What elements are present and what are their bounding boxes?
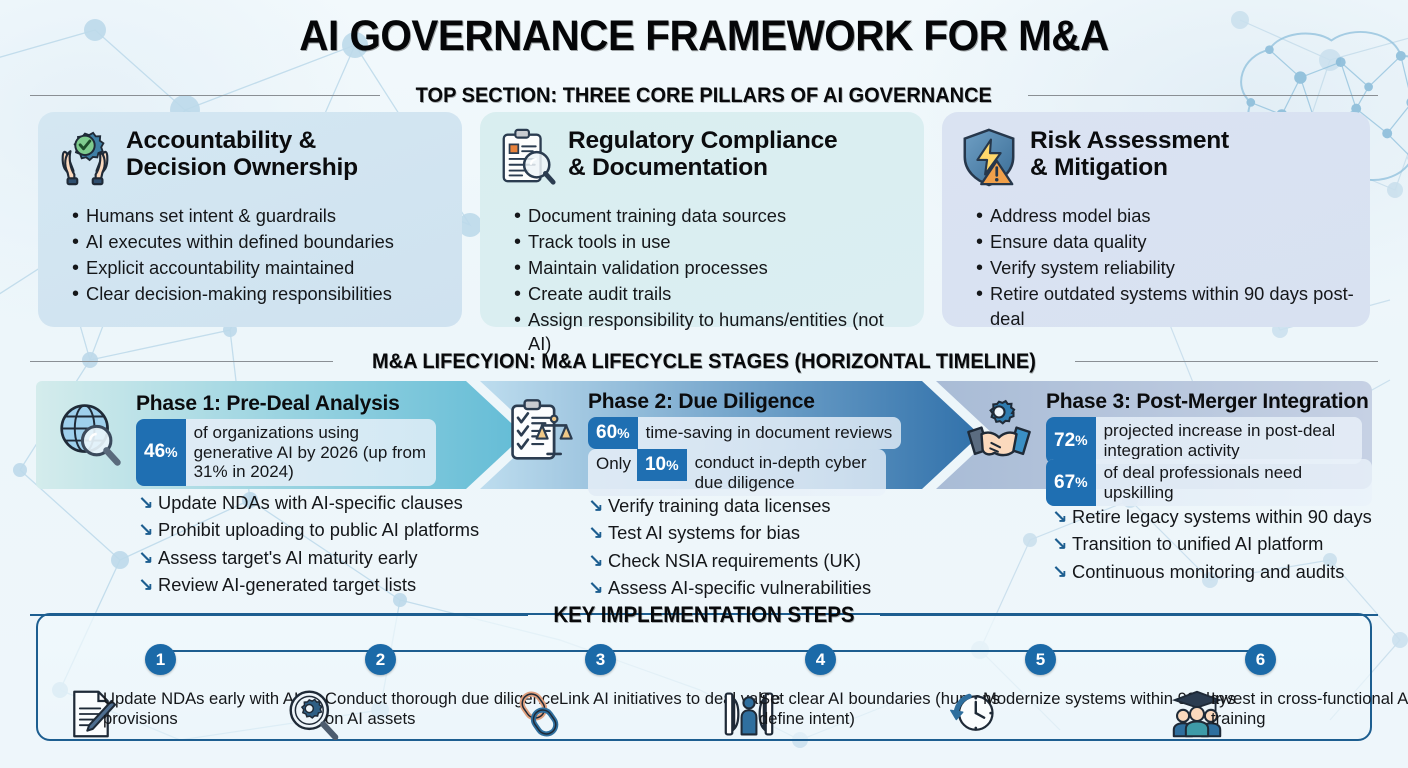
step-label: Invest in cross-functional AI training	[1211, 688, 1408, 729]
phase-1-title: Phase 1: Pre-Deal Analysis	[136, 392, 400, 416]
pillar-header: Risk Assessment & Mitigation	[958, 124, 1354, 198]
clipboard-magnifier-icon	[496, 126, 558, 188]
pillar-title: Risk Assessment & Mitigation	[1030, 124, 1229, 182]
steps-connector-line	[160, 650, 1260, 652]
stat-prefix: Only	[596, 449, 637, 474]
pillar-title-line2: Decision Ownership	[126, 155, 358, 182]
list-item: ↘Review AI-generated target lists	[138, 571, 479, 598]
chain-link-icon	[513, 688, 565, 740]
phase-1[interactable]: Phase 1: Pre-Deal Analysis 46% of organi…	[36, 381, 506, 489]
list-item: ↘Verify training data licenses	[588, 492, 871, 519]
section-header-pillars-label: TOP SECTION: THREE CORE PILLARS OF AI GO…	[416, 83, 992, 108]
list-item: Ensure data quality	[976, 230, 1354, 255]
arrow-icon: ↘	[138, 544, 158, 571]
arrow-icon: ↘	[1052, 558, 1072, 585]
step-number-badge: 3	[585, 644, 616, 675]
divider-rule-right	[1028, 95, 1378, 96]
step-6[interactable]: 6 Invest in cross-functional AI training	[1245, 666, 1408, 740]
pillar-bullet-list: Humans set intent & guardrails AI execut…	[54, 204, 446, 307]
pillar-cards-row: Accountability & Decision Ownership Huma…	[38, 112, 1370, 327]
list-item: Document training data sources	[514, 204, 908, 229]
step-number-badge: 2	[365, 644, 396, 675]
arrow-icon: ↘	[1052, 530, 1072, 557]
pillar-title-line1: Risk Assessment	[1030, 128, 1229, 155]
pillar-header: Accountability & Decision Ownership	[54, 124, 446, 198]
list-item: Clear decision-making responsibilities	[72, 282, 446, 307]
step-number-badge: 6	[1245, 644, 1276, 675]
phase-2-stat-1: Only 10% conduct in-depth cyber due dili…	[588, 449, 886, 496]
list-item: ↘Assess target's AI maturity early	[138, 544, 479, 571]
section-header-steps-label: KEY IMPLEMENTATION STEPS	[553, 602, 854, 628]
pillar-title-line1: Accountability &	[126, 128, 358, 155]
phase-2-actions: ↘Verify training data licenses ↘Test AI …	[588, 492, 871, 601]
stat-text: time-saving in document reviews	[638, 419, 902, 447]
pillar-title-line2: & Documentation	[568, 155, 837, 182]
globe-magnifier-icon	[54, 399, 124, 469]
phase-3-title: Phase 3: Post-Merger Integration	[1046, 390, 1369, 414]
stat-badge: 72%	[1046, 417, 1096, 464]
list-item: ↘Check NSIA requirements (UK)	[588, 547, 871, 574]
arrow-icon: ↘	[588, 547, 608, 574]
list-item: ↘Assess AI-specific vulnerabilities	[588, 574, 871, 601]
handshake-gear-icon	[964, 397, 1034, 467]
phase-1-actions: ↘Update NDAs with AI-specific clauses ↘P…	[138, 489, 479, 598]
list-item: Track tools in use	[514, 230, 908, 255]
list-item: Humans set intent & guardrails	[72, 204, 446, 229]
step-body: Invest in cross-functional AI training	[1245, 666, 1408, 740]
phase-2-title: Phase 2: Due Diligence	[588, 390, 815, 414]
section-header-pillars: TOP SECTION: THREE CORE PILLARS OF AI GO…	[30, 83, 1378, 108]
lifecycle-timeline: Phase 1: Pre-Deal Analysis 46% of organi…	[36, 381, 1372, 489]
divider-rule-right	[1075, 361, 1378, 362]
pillar-card-regulatory-compliance[interactable]: Regulatory Compliance & Documentation Do…	[480, 112, 924, 327]
pillar-card-accountability[interactable]: Accountability & Decision Ownership Huma…	[38, 112, 462, 327]
divider-rule-left	[30, 614, 528, 616]
stat-text: projected increase in post-deal integrat…	[1096, 417, 1362, 464]
step-number-badge: 1	[145, 644, 176, 675]
list-item: Verify system reliability	[976, 256, 1354, 281]
section-header-lifecycle-label: M&A LIFECYION: M&A LIFECYCLE STAGES (HOR…	[372, 349, 1036, 374]
arrow-icon: ↘	[138, 489, 158, 516]
stat-text: of deal professionals need upskilling	[1096, 459, 1372, 506]
pillar-bullet-list: Document training data sources Track too…	[496, 204, 908, 357]
list-item: Address model bias	[976, 204, 1354, 229]
list-item: Maintain validation processes	[514, 256, 908, 281]
list-item: ↘Transition to unified AI platform	[1052, 530, 1372, 557]
list-item: Explicit accountability maintained	[72, 256, 446, 281]
hands-holding-gear-check-icon	[54, 126, 116, 188]
pillar-title-line2: & Mitigation	[1030, 155, 1229, 182]
phase-3[interactable]: Phase 3: Post-Merger Integration 72% pro…	[946, 381, 1372, 489]
section-header-steps: KEY IMPLEMENTATION STEPS	[30, 602, 1378, 628]
infographic-canvas: AI GOVERNANCE FRAMEWORK FOR M&A TOP SECT…	[0, 0, 1408, 768]
arrow-icon: ↘	[588, 492, 608, 519]
list-item: ↘Continuous monitoring and audits	[1052, 558, 1372, 585]
divider-rule-left	[30, 95, 380, 96]
phase-3-stat-1: 67% of deal professionals need upskillin…	[1046, 459, 1372, 506]
list-item: ↘Retire legacy systems within 90 days	[1052, 503, 1372, 530]
stat-text: of organizations using generative AI by …	[186, 419, 436, 486]
arrow-icon: ↘	[138, 571, 158, 598]
list-item: Create audit trails	[514, 282, 908, 307]
pillar-header: Regulatory Compliance & Documentation	[496, 124, 908, 198]
pillar-title-line1: Regulatory Compliance	[568, 128, 837, 155]
divider-rule-right	[880, 614, 1378, 616]
page-title: AI GOVERNANCE FRAMEWORK FOR M&A	[42, 12, 1366, 61]
shield-bolt-warning-icon	[958, 126, 1020, 188]
stat-badge: 46%	[136, 419, 186, 486]
pillar-card-risk-assessment[interactable]: Risk Assessment & Mitigation Address mod…	[942, 112, 1370, 327]
stat-badge: 60%	[588, 417, 638, 449]
arrow-icon: ↘	[138, 516, 158, 543]
divider-rule-left	[30, 361, 333, 362]
stat-badge: 67%	[1046, 459, 1096, 506]
phase-1-stat-0: 46% of organizations using generative AI…	[136, 419, 436, 486]
pillar-title: Accountability & Decision Ownership	[126, 124, 358, 182]
arrow-icon: ↘	[588, 519, 608, 546]
list-item: ↘Prohibit uploading to public AI platfor…	[138, 516, 479, 543]
stat-badge: 10%	[637, 449, 687, 481]
step-number-badge: 5	[1025, 644, 1056, 675]
clipboard-scales-icon	[506, 397, 576, 467]
section-header-lifecycle: M&A LIFECYION: M&A LIFECYCLE STAGES (HOR…	[30, 349, 1378, 374]
phase-2-stat-0: 60% time-saving in document reviews	[588, 417, 901, 449]
phase-3-actions: ↘Retire legacy systems within 90 days ↘T…	[1052, 503, 1372, 585]
list-item: ↘Update NDAs with AI-specific clauses	[138, 489, 479, 516]
list-item: AI executes within defined boundaries	[72, 230, 446, 255]
arrow-icon: ↘	[588, 574, 608, 601]
phase-2[interactable]: Phase 2: Due Diligence 60% time-saving i…	[496, 381, 986, 489]
phase-3-stat-0: 72% projected increase in post-deal inte…	[1046, 417, 1362, 464]
stat-text: conduct in-depth cyber due diligence	[687, 449, 886, 496]
list-item: Retire outdated systems within 90 days p…	[976, 282, 1354, 332]
pillar-title: Regulatory Compliance & Documentation	[568, 124, 837, 182]
arrow-icon: ↘	[1052, 503, 1072, 530]
list-item: ↘Test AI systems for bias	[588, 519, 871, 546]
step-number-badge: 4	[805, 644, 836, 675]
pillar-bullet-list: Address model bias Ensure data quality V…	[958, 204, 1354, 331]
